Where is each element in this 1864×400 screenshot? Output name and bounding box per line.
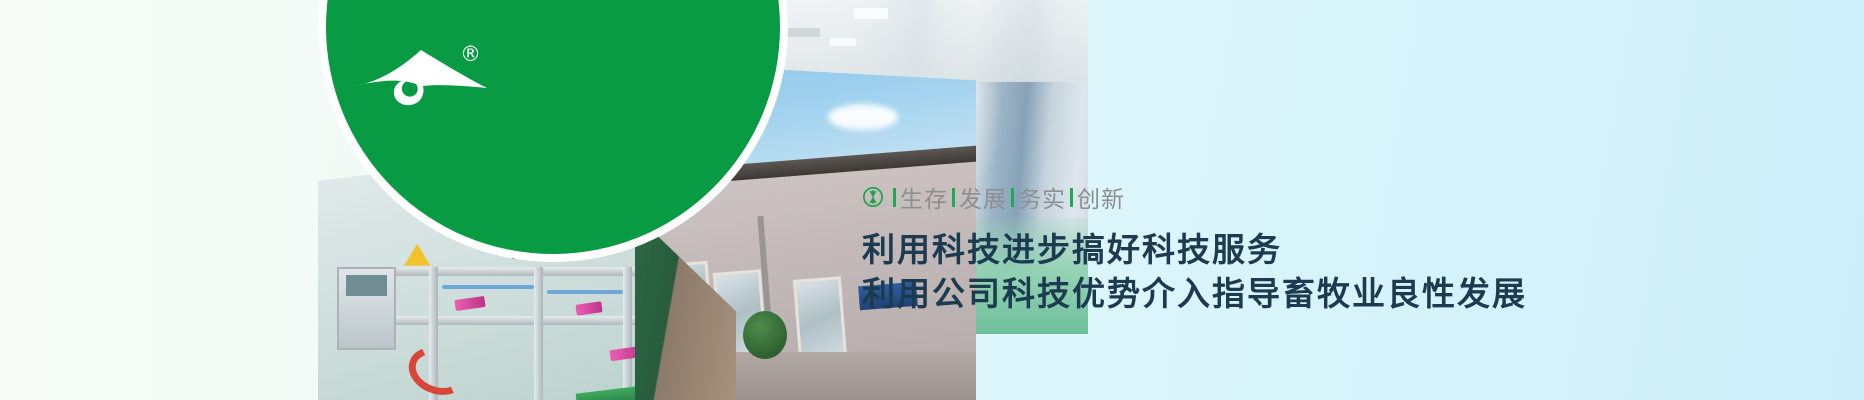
registered-trademark-icon: ® (460, 44, 481, 65)
tagline-word-3: 务实 (1018, 180, 1066, 214)
air-tube (442, 285, 534, 289)
tagline-separator (1011, 188, 1014, 207)
tagline-word-1: 生存 (900, 180, 948, 214)
tagline-separator (1070, 188, 1073, 207)
tagline-word-2: 发展 (959, 180, 1007, 214)
red-hose (402, 340, 474, 400)
vitality-circle-icon (862, 186, 884, 208)
cloud-shape (828, 104, 898, 130)
headline-line-2: 利用公司科技优势介入指导畜牧业良性发展 (862, 272, 1527, 316)
tagline-separator (952, 188, 955, 207)
tagline-separator (893, 188, 896, 207)
shrub-plant (743, 311, 787, 359)
product-sachet (454, 296, 485, 311)
ceiling-lamp-icon (830, 38, 856, 46)
building-window (793, 276, 847, 361)
air-tube (547, 290, 623, 294)
logo-left-crop-mask (0, 0, 318, 400)
tagline-word-4: 创新 (1077, 180, 1125, 214)
company-tagline: 生存 发展 务实 创新 (862, 180, 1527, 214)
warning-triangle-icon (404, 244, 430, 266)
machine-frame-post (623, 267, 632, 397)
hero-banner: ® 生存 发展 务实 创新 利用科技进步搞好科技服务 利用公司科技优势介入指导畜… (0, 0, 1864, 400)
machine-frame-post (534, 267, 543, 400)
panel-screen (346, 275, 388, 296)
control-panel (337, 267, 396, 350)
ceiling-lamp-icon (854, 8, 888, 19)
headline-line-1: 利用科技进步搞好科技服务 (862, 228, 1527, 272)
banner-text-block: 生存 发展 务实 创新 利用科技进步搞好科技服务 利用公司科技优势介入指导畜牧业… (862, 180, 1527, 316)
product-sachet (576, 302, 603, 317)
